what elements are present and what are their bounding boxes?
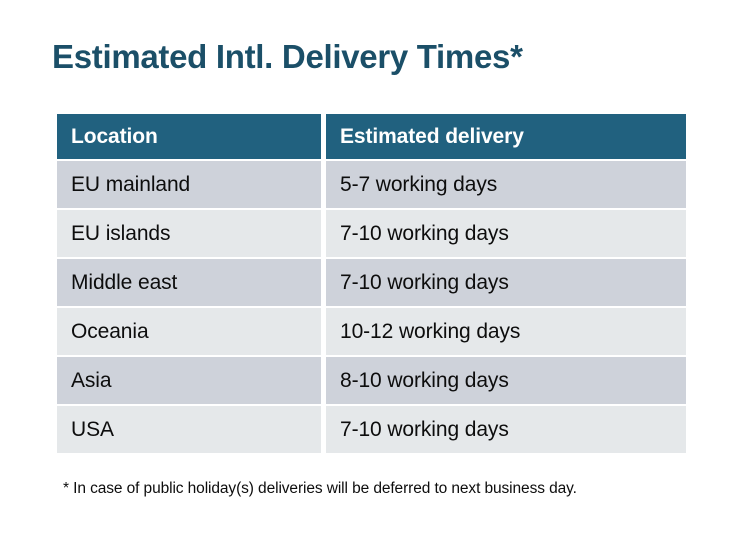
cell-location: EU mainland xyxy=(57,161,321,208)
cell-location: Oceania xyxy=(57,308,321,355)
column-header-estimated-delivery: Estimated delivery xyxy=(326,114,686,159)
cell-delivery: 7-10 working days xyxy=(326,259,686,306)
cell-delivery: 5-7 working days xyxy=(326,161,686,208)
cell-delivery: 10-12 working days xyxy=(326,308,686,355)
page-title: Estimated Intl. Delivery Times* xyxy=(52,36,523,78)
cell-delivery: 7-10 working days xyxy=(326,210,686,257)
column-header-location: Location xyxy=(57,114,321,159)
table-row: USA 7-10 working days xyxy=(57,406,686,453)
delivery-times-page: Estimated Intl. Delivery Times* Location… xyxy=(0,0,745,536)
table-row: Oceania 10-12 working days xyxy=(57,308,686,355)
cell-delivery: 7-10 working days xyxy=(326,406,686,453)
table-header-row: Location Estimated delivery xyxy=(57,114,686,159)
table-row: EU islands 7-10 working days xyxy=(57,210,686,257)
cell-location: EU islands xyxy=(57,210,321,257)
cell-location: Middle east xyxy=(57,259,321,306)
table-row: EU mainland 5-7 working days xyxy=(57,161,686,208)
table-body: EU mainland 5-7 working days EU islands … xyxy=(57,161,686,453)
cell-delivery: 8-10 working days xyxy=(326,357,686,404)
table-header: Location Estimated delivery xyxy=(57,114,686,159)
footnote-text: * In case of public holiday(s) deliverie… xyxy=(63,480,577,498)
cell-location: USA xyxy=(57,406,321,453)
estimated-delivery-times-table: Location Estimated delivery EU mainland … xyxy=(52,112,691,455)
cell-location: Asia xyxy=(57,357,321,404)
table-row: Middle east 7-10 working days xyxy=(57,259,686,306)
table-row: Asia 8-10 working days xyxy=(57,357,686,404)
